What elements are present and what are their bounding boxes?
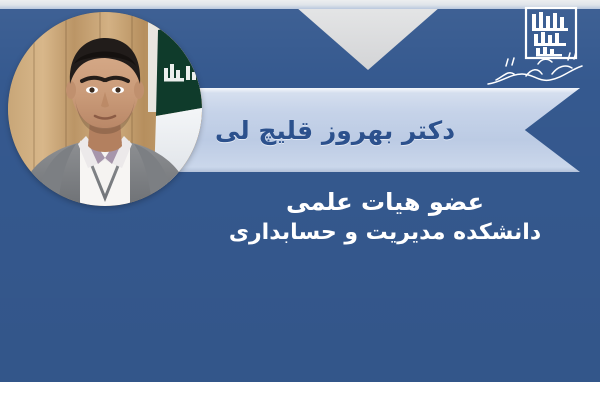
role-line: عضو هیات علمی <box>190 186 580 218</box>
faculty-member-photo <box>8 12 202 206</box>
department-line: دانشکده مدیریت و حسابداری <box>190 218 580 248</box>
faculty-profile-card: دکتر بهروز قلیچ لی عضو هیات علمی دانشکده… <box>0 0 600 400</box>
subtitle-block: عضو هیات علمی دانشکده مدیریت و حسابداری <box>190 186 580 248</box>
shahid-beheshti-university-logo <box>482 4 592 96</box>
